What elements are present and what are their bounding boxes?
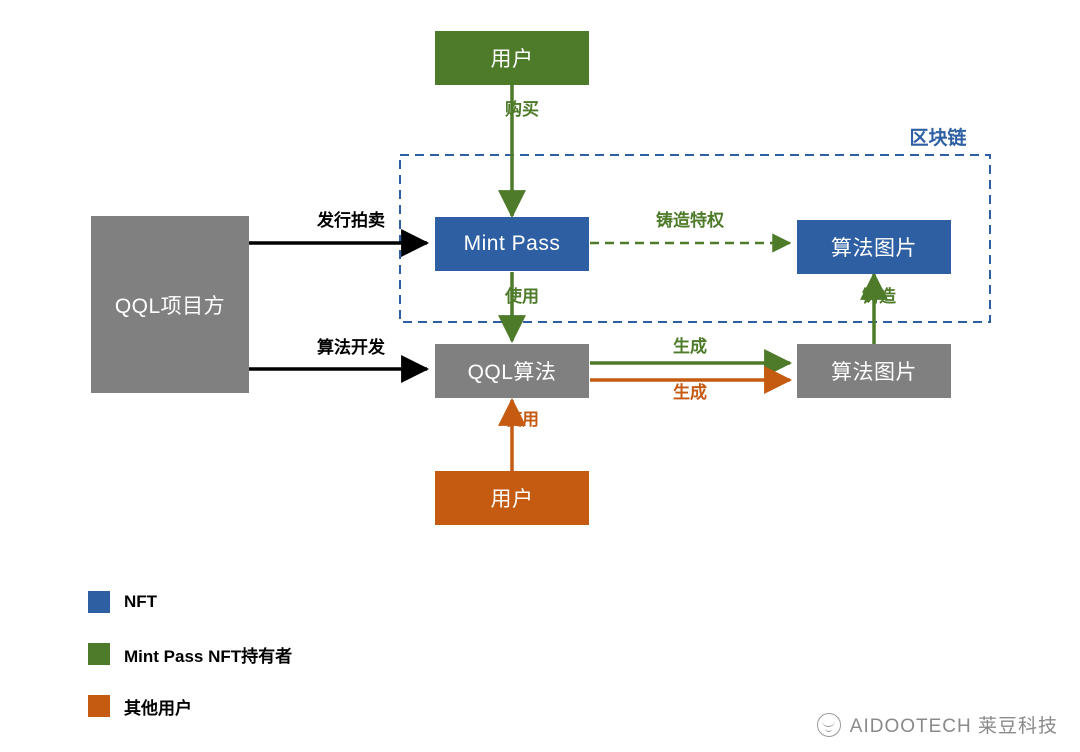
node-qql-algorithm[interactable]: QQL算法 [435, 344, 589, 398]
edge-label-generate-green: 生成 [650, 338, 730, 356]
node-label: QQL项目方 [115, 290, 225, 320]
edge-label-use-top: 使用 [492, 288, 552, 306]
edge-label-generate-orange: 生成 [650, 384, 730, 402]
legend-swatch-other-users [88, 695, 110, 717]
edge-label-mint-privilege: 铸造特权 [625, 212, 755, 230]
legend-item-other-users: 其他用户 [88, 689, 292, 723]
node-algo-image-plain[interactable]: 算法图片 [797, 344, 951, 398]
edge-label-algo-dev: 算法开发 [286, 339, 416, 357]
wechat-logo-icon [817, 713, 841, 737]
node-mint-pass[interactable]: Mint Pass [435, 217, 589, 271]
legend-swatch-nft [88, 591, 110, 613]
legend-label-mint-pass-holder: Mint Pass NFT持有者 [124, 642, 292, 667]
legend-label-other-users: 其他用户 [124, 694, 192, 719]
legend-label-nft: NFT [124, 592, 157, 612]
edge-label-mint-up: 铸造 [854, 288, 904, 306]
node-user-bottom[interactable]: 用户 [435, 471, 589, 525]
legend: NFT Mint Pass NFT持有者 其他用户 [88, 585, 292, 741]
watermark: AIDOOTECH 莱豆科技 [817, 711, 1058, 738]
node-user-top[interactable]: 用户 [435, 31, 589, 85]
edge-label-use-bottom: 使用 [492, 411, 552, 429]
node-label: 算法图片 [831, 356, 917, 386]
legend-item-nft: NFT [88, 585, 292, 619]
blockchain-group-label: 区块链 [888, 129, 988, 149]
edge-label-buy: 购买 [492, 101, 552, 119]
node-label: Mint Pass [464, 232, 561, 256]
legend-swatch-mint-pass-holder [88, 643, 110, 665]
node-qql-project[interactable]: QQL项目方 [91, 216, 249, 393]
edge-label-issue-auction: 发行拍卖 [286, 212, 416, 230]
node-label: QQL算法 [468, 356, 557, 386]
node-label: 算法图片 [831, 232, 917, 262]
watermark-text: AIDOOTECH 莱豆科技 [850, 711, 1058, 738]
node-label: 用户 [491, 43, 534, 73]
node-algo-image-nft[interactable]: 算法图片 [797, 220, 951, 274]
diagram-canvas: 用户 Mint Pass 算法图片 QQL项目方 QQL算法 算法图片 用户 购… [0, 0, 1080, 752]
legend-item-mint-pass-holder: Mint Pass NFT持有者 [88, 637, 292, 671]
node-label: 用户 [491, 483, 534, 513]
